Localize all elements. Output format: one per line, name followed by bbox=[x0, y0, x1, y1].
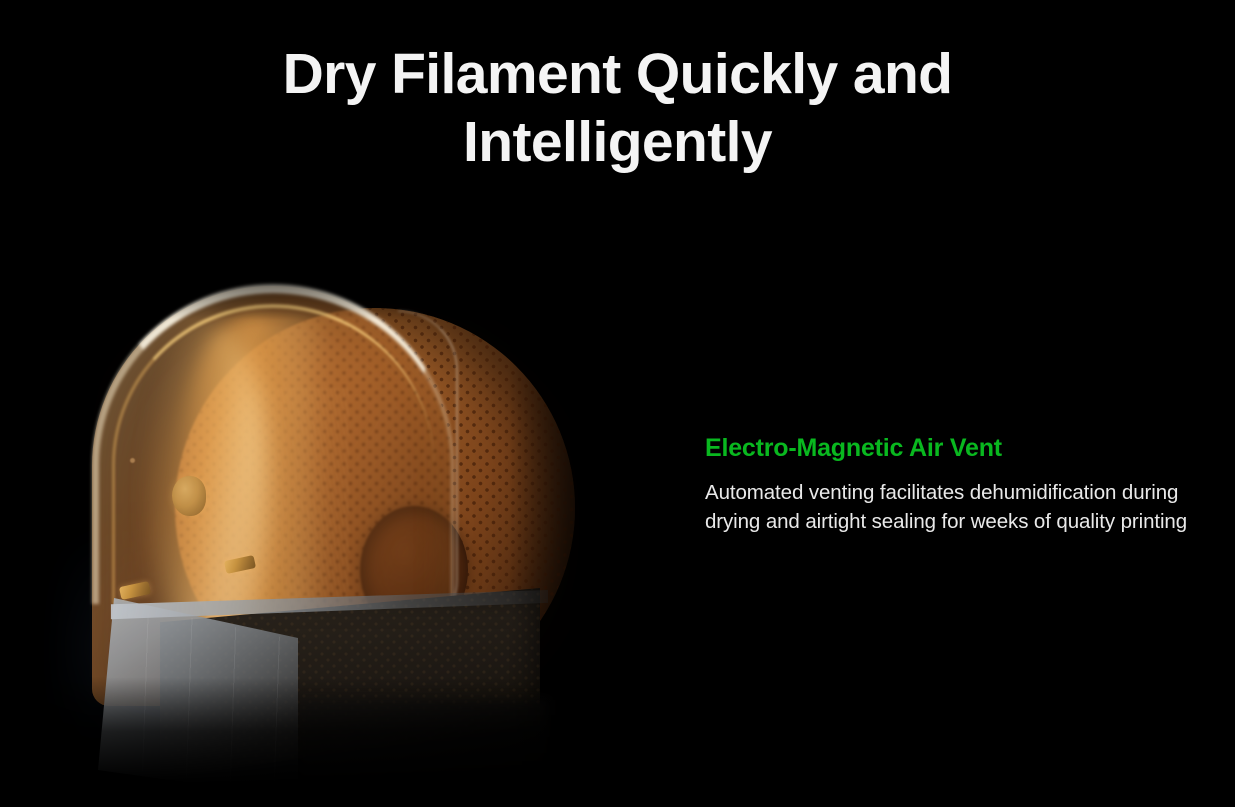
headline-line-1: Dry Filament Quickly and bbox=[0, 40, 1235, 108]
feature-title: Electro-Magnetic Air Vent bbox=[705, 432, 1205, 464]
brand-emblem-icon bbox=[172, 476, 206, 516]
headline-line-2: Intelligently bbox=[0, 108, 1235, 176]
product-image-filament-dryer bbox=[0, 250, 640, 807]
feature-text-block: Electro-Magnetic Air Vent Automated vent… bbox=[705, 432, 1205, 536]
base-right-shadow bbox=[298, 700, 548, 807]
page-headline: Dry Filament Quickly and Intelligently bbox=[0, 40, 1235, 176]
base-unit bbox=[98, 550, 540, 800]
dome-sensor-dot bbox=[130, 458, 135, 463]
feature-description: Automated venting facilitates dehumidifi… bbox=[705, 478, 1195, 536]
